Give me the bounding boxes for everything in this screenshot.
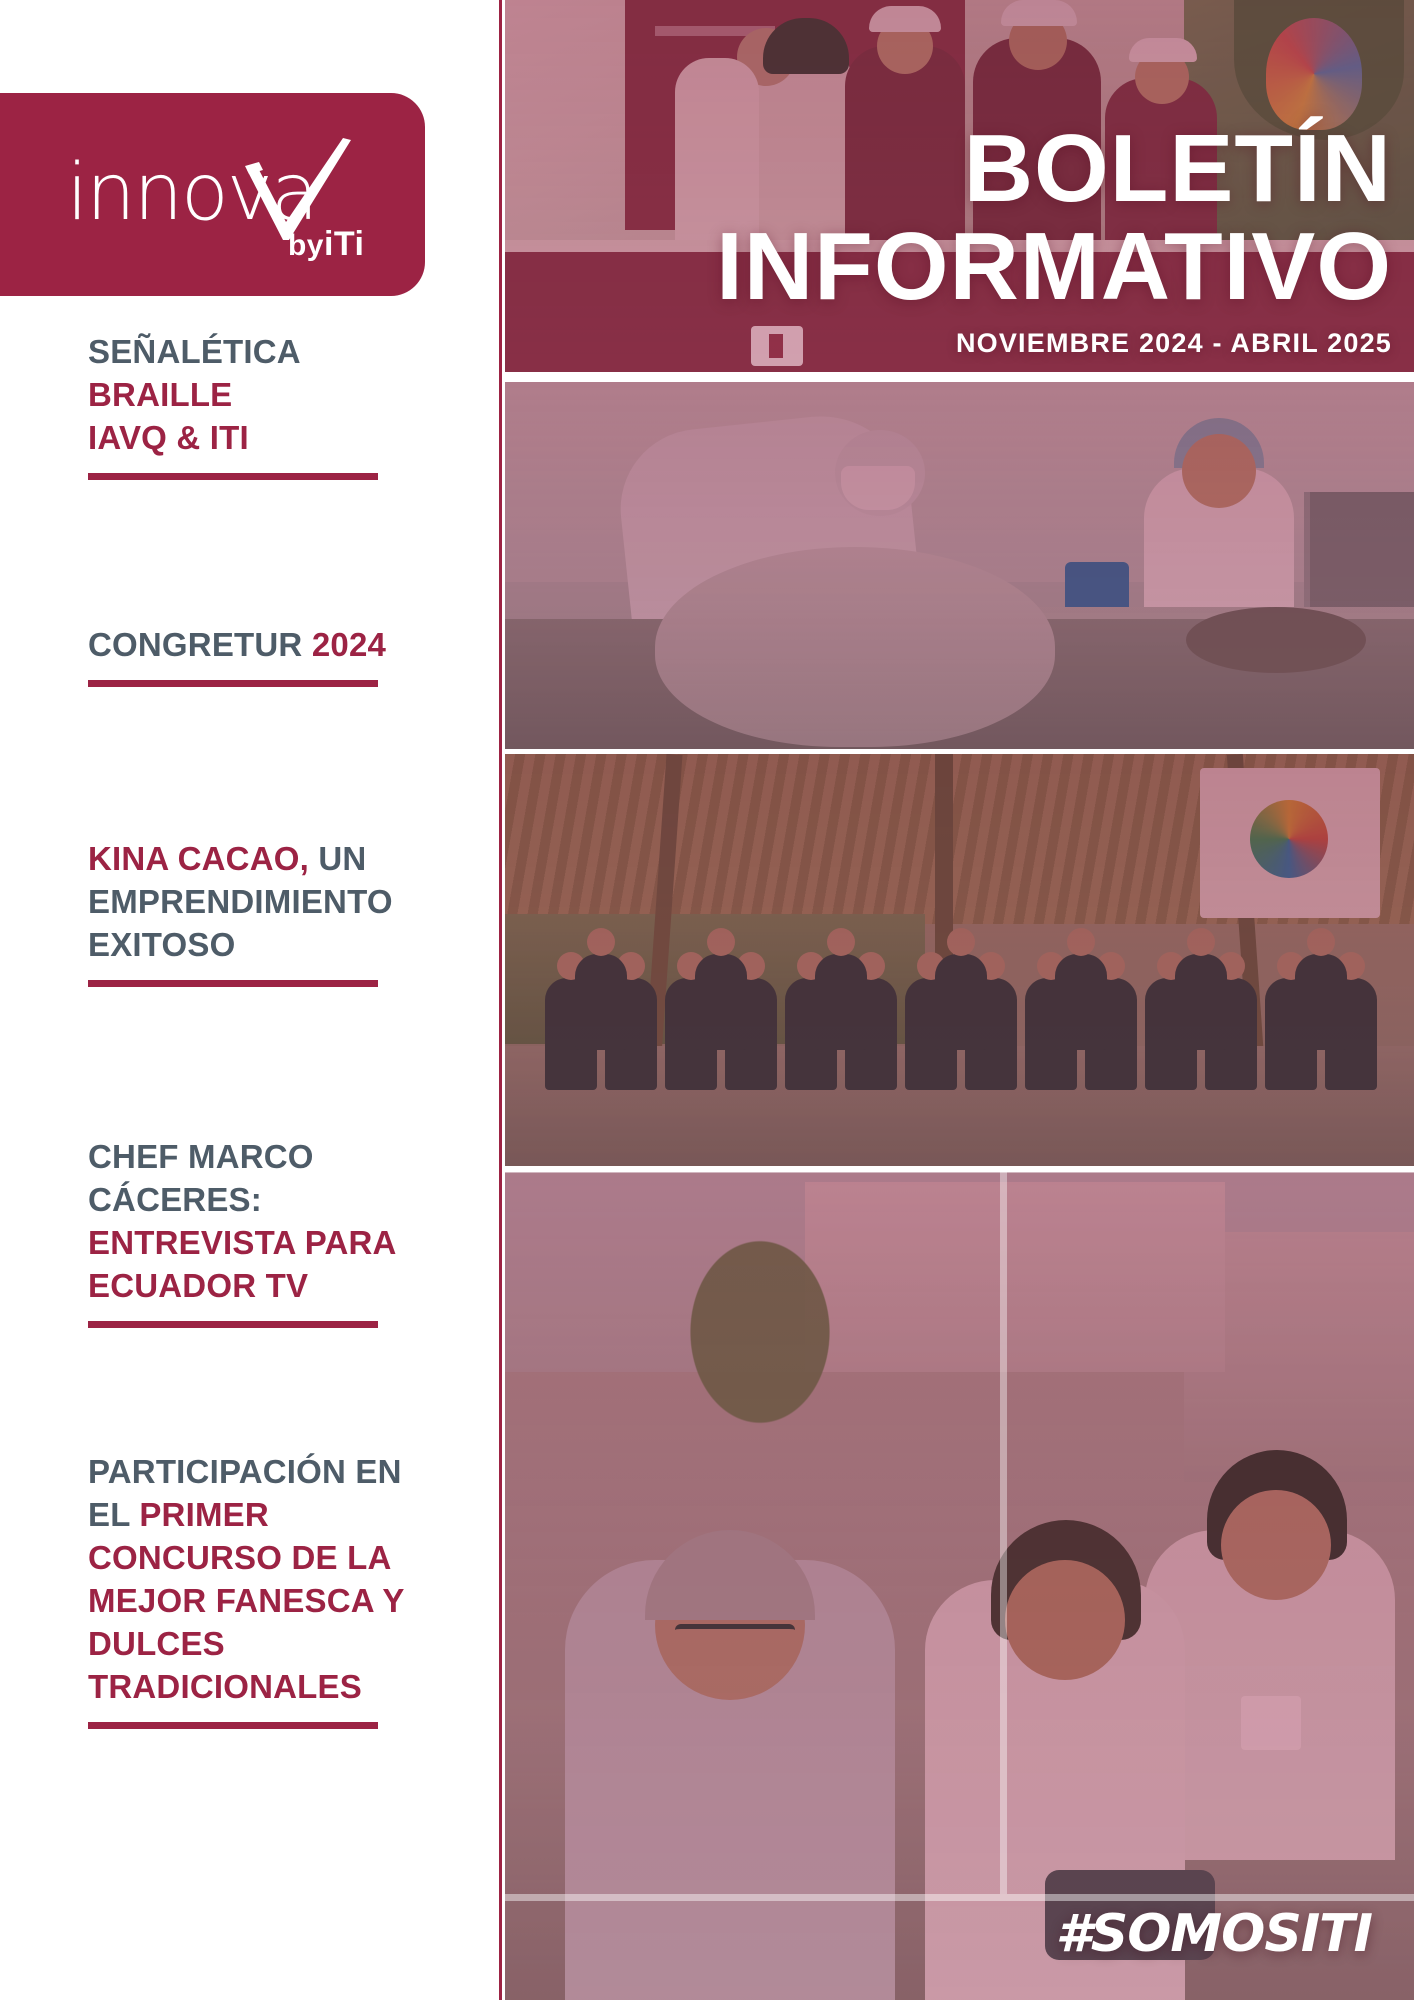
headline-text: SEÑALÉTICA BRAILLE IAVQ & ITI	[88, 330, 442, 459]
sidebar: innova byiTi SEÑALÉTICA BRAILLE IAVQ & I…	[0, 0, 502, 2000]
headline-line: CONGRETUR	[88, 626, 312, 663]
hashtag-somositi: #SOMOSITI	[1056, 1904, 1372, 1964]
headline-item-congretur-2024[interactable]: CONGRETUR 2024	[0, 623, 502, 687]
headline-line-accent: IAVQ & ITI	[88, 419, 249, 456]
masthead: BOLETÍN INFORMATIVO NOVIEMBRE 2024 - ABR…	[505, 120, 1414, 359]
frame-line-top	[505, 1166, 1414, 1173]
spacer	[0, 480, 502, 623]
logo-by-text: by	[288, 229, 324, 262]
headline-line-accent: MEJOR FANESCA Y	[88, 1582, 405, 1619]
photo-wash-overlay	[505, 1172, 1414, 2000]
headline-line: PARTICIPACIÓN EN	[88, 1453, 402, 1490]
photo-health-check	[505, 1172, 1414, 2000]
headline-line: CÁCERES:	[88, 1181, 262, 1218]
spacer	[0, 1328, 502, 1450]
logo-iti-text: iTi	[324, 225, 365, 263]
headline-text: PARTICIPACIÓN EN EL PRIMER CONCURSO DE L…	[88, 1450, 442, 1708]
headline-line-accent: DULCES	[88, 1625, 225, 1662]
logo-wrap: innova byiTi	[53, 130, 373, 260]
photo-kitchen	[505, 382, 1414, 749]
headline-line: UN	[309, 840, 366, 877]
headline-line-accent: KINA CACAO,	[88, 840, 309, 877]
photo-wash-overlay	[505, 382, 1414, 749]
headline-text: KINA CACAO, UN EMPRENDIMIENTO EXITOSO	[88, 837, 442, 966]
photo-wash-overlay	[505, 754, 1414, 1166]
headline-line-accent: ENTREVISTA PARA	[88, 1224, 397, 1261]
headline-item-kina-cacao[interactable]: KINA CACAO, UN EMPRENDIMIENTO EXITOSO	[0, 837, 502, 987]
headline-line-accent: ECUADOR TV	[88, 1267, 308, 1304]
headline-line: EXITOSO	[88, 926, 236, 963]
headline-line: EL	[88, 1496, 139, 1533]
headline-line: SEÑALÉTICA	[88, 333, 301, 370]
spacer	[0, 987, 502, 1135]
brand-logo-plate: innova byiTi	[0, 93, 425, 296]
headline-item-senaletica-braille[interactable]: SEÑALÉTICA BRAILLE IAVQ & ITI	[0, 330, 502, 480]
headline-text: CONGRETUR 2024	[88, 623, 442, 666]
logo-wordmark: innova	[67, 154, 317, 232]
headline-line-accent: CONCURSO DE LA	[88, 1539, 391, 1576]
title-line-1: BOLETÍN	[964, 115, 1392, 222]
title-line-2: INFORMATIVO	[716, 213, 1392, 320]
frame-line-bottom	[505, 1894, 1414, 1901]
masthead-date-range: NOVIEMBRE 2024 - ABRIL 2025	[505, 328, 1392, 359]
photo-outdoor-event	[505, 754, 1414, 1166]
newsletter-cover-page: innova byiTi SEÑALÉTICA BRAILLE IAVQ & I…	[0, 0, 1414, 2000]
headline-item-chef-marco-caceres[interactable]: CHEF MARCO CÁCERES: ENTREVISTA PARA ECUA…	[0, 1135, 502, 1328]
headline-line-accent: BRAILLE	[88, 376, 232, 413]
headline-divider	[88, 680, 378, 687]
headline-divider	[88, 473, 378, 480]
headline-item-concurso-fanesca[interactable]: PARTICIPACIÓN EN EL PRIMER CONCURSO DE L…	[0, 1450, 502, 1729]
logo-by-iti: byiTi	[288, 225, 365, 264]
headline-line: CHEF MARCO	[88, 1138, 314, 1175]
frame-line-vertical	[1000, 1172, 1007, 1894]
headline-line-accent: PRIMER	[139, 1496, 269, 1533]
headline-line-accent: 2024	[312, 626, 386, 663]
spacer	[0, 687, 502, 837]
headline-list: SEÑALÉTICA BRAILLE IAVQ & ITI CONGRETUR …	[0, 330, 502, 1729]
headline-divider	[88, 1722, 378, 1729]
headline-divider	[88, 1321, 378, 1328]
headline-divider	[88, 980, 378, 987]
headline-text: CHEF MARCO CÁCERES: ENTREVISTA PARA ECUA…	[88, 1135, 442, 1307]
headline-line-accent: TRADICIONALES	[88, 1668, 362, 1705]
headline-line: EMPRENDIMIENTO	[88, 883, 393, 920]
page-title: BOLETÍN INFORMATIVO	[505, 120, 1392, 316]
